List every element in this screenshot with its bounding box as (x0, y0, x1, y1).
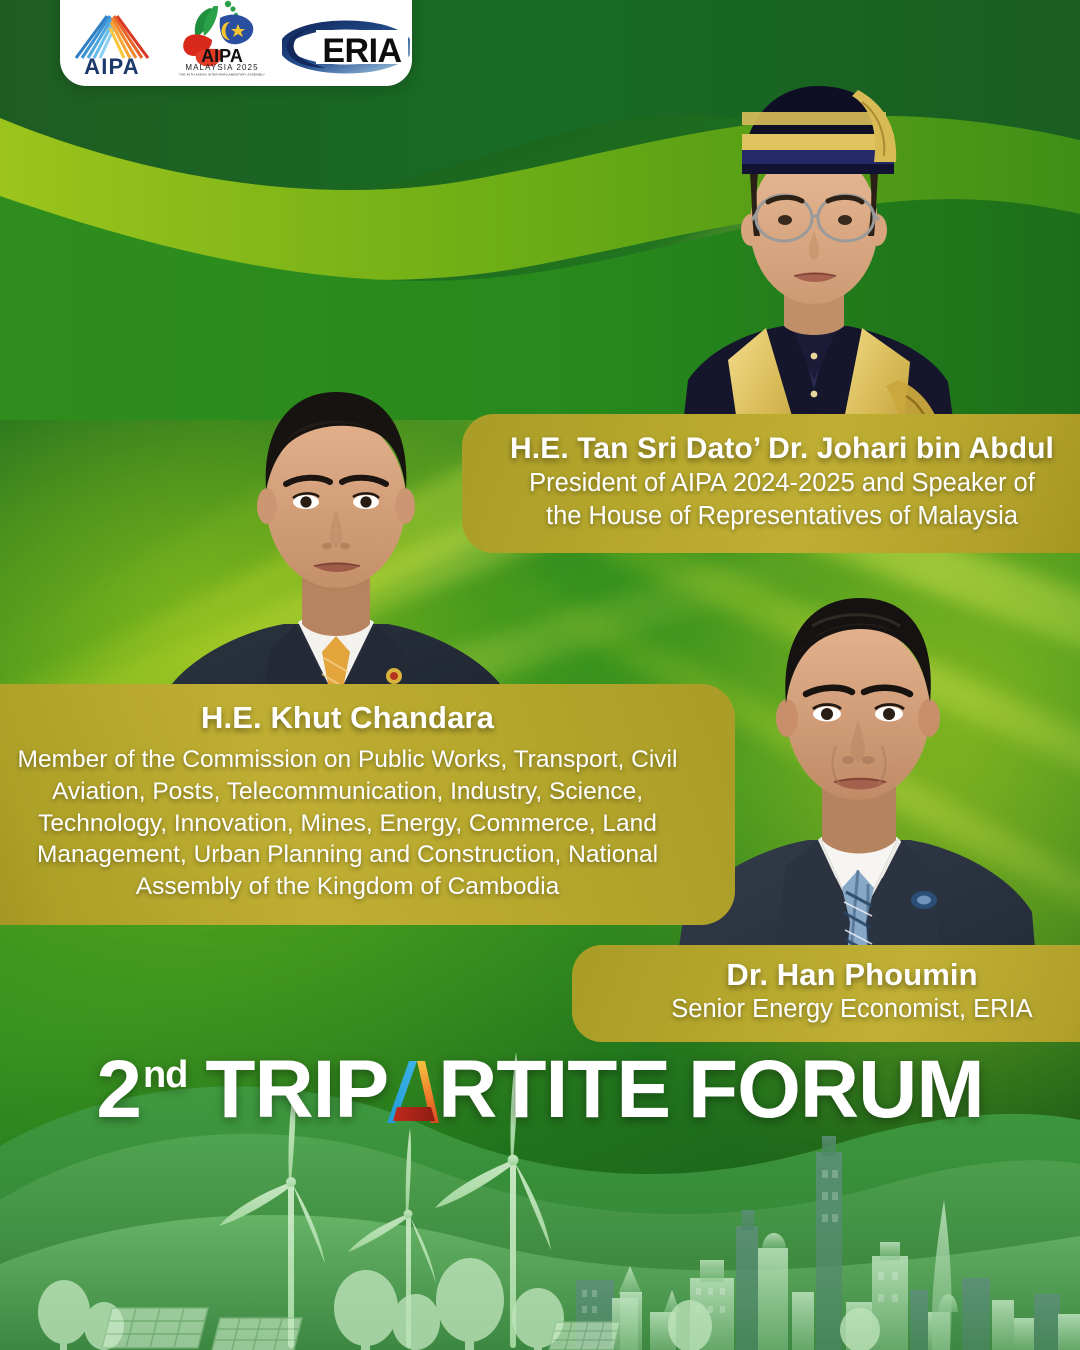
portrait-johari (648, 50, 978, 470)
title-second-word: FORUM (688, 1043, 984, 1137)
aipa-malaysia-subtitle: MALAYSIA 2025 (185, 63, 258, 72)
name-plate-chandara: H.E. Khut Chandara Member of the Commiss… (0, 684, 735, 925)
stylized-a-icon (387, 1049, 439, 1111)
title-word-before-a: TRIP (205, 1043, 388, 1137)
speaker-role-chandara-line2: Aviation, Posts, Telecommunication, Indu… (0, 776, 695, 808)
name-plate-johari: H.E. Tan Sri Dato’ Dr. Johari bin Abdul … (462, 414, 1080, 553)
eria-logo-text: ERIA (322, 32, 401, 70)
speaker-role-chandara-line1: Member of the Commission on Public Works… (0, 744, 695, 776)
title-word-after-a: RTITE (438, 1043, 670, 1137)
title-ordinal-number: 2 (96, 1043, 141, 1137)
speaker-role-phoumin-line1: Senior Energy Economist, ERIA (602, 993, 1080, 1026)
aipa-logo-icon: AIPA (62, 4, 162, 76)
aipa-logo: AIPA (62, 4, 162, 76)
event-title: 2nd TRIP (96, 1043, 983, 1137)
logo-bar: AIPA AIPA MALAYSIA 2025 (60, 0, 412, 86)
poster-canvas: H.E. Tan Sri Dato’ Dr. Johari bin Abdul … (0, 0, 1080, 1350)
speaker-name-phoumin: Dr. Han Phoumin (602, 957, 1080, 993)
aipa-malaysia-logo: AIPA MALAYSIA 2025 THE 46TH ASEAN INTER-… (176, 0, 268, 76)
speaker-name-chandara: H.E. Khut Chandara (0, 700, 695, 736)
aipa-malaysia-logo-icon: AIPA MALAYSIA 2025 THE 46TH ASEAN INTER-… (176, 0, 268, 76)
speaker-name-johari: H.E. Tan Sri Dato’ Dr. Johari bin Abdul (488, 432, 1076, 467)
speaker-role-chandara-line5: Assembly of the Kingdom of Cambodia (0, 871, 695, 903)
speaker-role-chandara-line3: Technology, Innovation, Mines, Energy, C… (0, 808, 695, 840)
name-plate-phoumin: Dr. Han Phoumin Senior Energy Economist,… (572, 945, 1080, 1042)
aipa-logo-text: AIPA (84, 54, 140, 76)
title-ordinal-suffix: nd (143, 1054, 187, 1097)
aipa-malaysia-tagline: THE 46TH ASEAN INTER-PARLIAMENTARY ASSEM… (179, 73, 265, 76)
eria-logo: ERIA (282, 18, 410, 76)
eria-logo-icon: ERIA (282, 18, 410, 76)
speaker-role-johari-line1: President of AIPA 2024-2025 and Speaker … (488, 467, 1076, 500)
event-title-block: 2nd TRIP (0, 1035, 1080, 1145)
speaker-role-johari-line2: the House of Representatives of Malaysia (488, 500, 1076, 533)
speaker-role-chandara-line4: Management, Urban Planning and Construct… (0, 839, 695, 871)
